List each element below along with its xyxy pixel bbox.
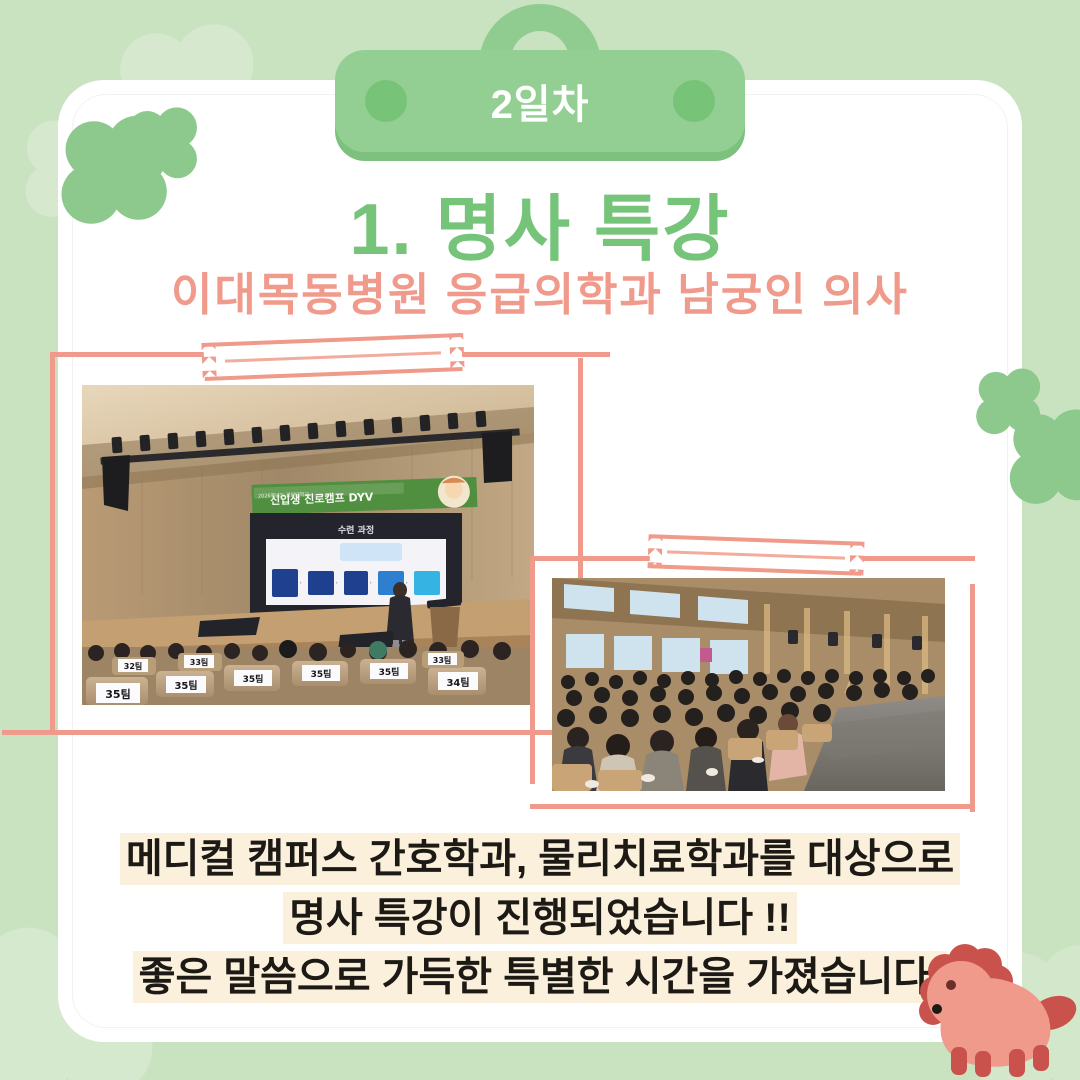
tape-center-line	[225, 351, 442, 362]
day-badge: 2일차	[335, 4, 745, 169]
auditorium-stage-photo[interactable]: 신입생 진로캠프 DYV 2026학년도 건양대학교 수련 과정 ››	[82, 385, 534, 705]
page-subtitle: 이대목동병원 응급의학과 남궁인 의사	[0, 258, 1080, 323]
svg-text:34팀: 34팀	[446, 677, 469, 689]
badge-label: 2일차	[335, 50, 745, 152]
frame-line-left	[50, 352, 55, 730]
photo-block-2	[530, 556, 1030, 826]
washi-tape-top-right	[649, 534, 862, 575]
caption-line-1: 메디컬 캠퍼스 간호학과, 물리치료학과를 대상으로	[0, 836, 1080, 883]
tape-center-line	[667, 550, 845, 559]
svg-text:35팀: 35팀	[379, 666, 400, 678]
frame-line-bottom	[2, 730, 562, 735]
card-canvas: 2일차 1. 명사 특강 이대목동병원 응급의학과 남궁인 의사	[0, 0, 1080, 1080]
frame-line-bottom	[530, 804, 975, 809]
svg-text:32팀: 32팀	[124, 661, 143, 671]
svg-text:수련 과정: 수련 과정	[338, 524, 374, 536]
svg-text:33팀: 33팀	[190, 657, 209, 667]
svg-text:35팀: 35팀	[311, 668, 332, 680]
svg-text:35팀: 35팀	[243, 673, 264, 685]
frame-line-right	[970, 584, 975, 812]
lion-mascot	[893, 935, 1080, 1080]
audience-seating-photo[interactable]	[552, 578, 945, 791]
clover-right-large	[998, 400, 1080, 518]
svg-text:35팀: 35팀	[174, 680, 197, 692]
svg-text:33팀: 33팀	[433, 655, 452, 665]
svg-text:35팀: 35팀	[105, 688, 130, 701]
frame-line-left	[530, 556, 535, 784]
